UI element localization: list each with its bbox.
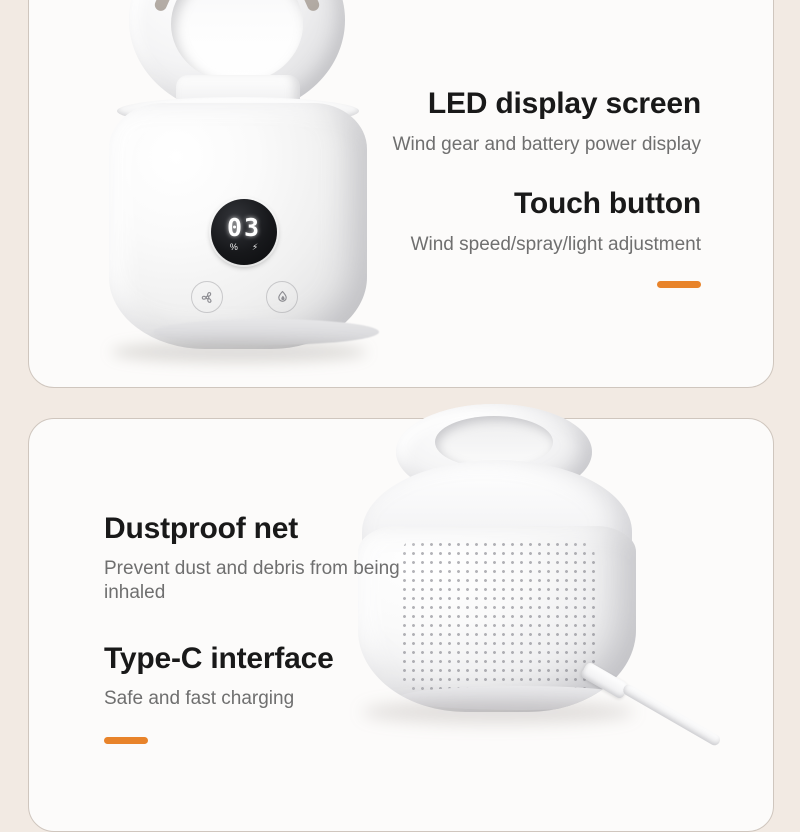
product-feature-page: 03 % ⚡ — [0, 0, 800, 800]
dustproof-typec-text-block: Dustproof net Prevent dust and debris fr… — [104, 512, 434, 744]
feature-subtext-dustproof-net: Prevent dust and debris from being inhal… — [104, 557, 434, 606]
led-display-value: 03 — [227, 215, 261, 240]
feature-heading-touch-button: Touch button — [281, 187, 701, 220]
feature-heading-typec-interface: Type-C interface — [104, 642, 434, 675]
led-display-screen: 03 % ⚡ — [211, 199, 277, 265]
feature-subtext-touch-button: Wind speed/spray/light adjustment — [281, 233, 701, 257]
percent-icon: % — [230, 243, 238, 252]
accent-bar-bottom — [104, 737, 148, 744]
led-touch-text-block: LED display screen Wind gear and battery… — [281, 87, 701, 288]
ring-air-opening — [171, 0, 303, 83]
accent-bar-wrapper-bottom — [104, 737, 434, 744]
base-drop-shadow — [111, 341, 367, 363]
accent-bar-top — [657, 281, 701, 288]
led-touch-panel-card: 03 % ⚡ — [28, 0, 774, 388]
led-indicator-icons: % ⚡ — [230, 243, 258, 252]
water-droplet-icon — [274, 289, 291, 306]
fan-icon — [199, 289, 216, 306]
accent-bar-wrapper-top — [281, 281, 701, 288]
fan-speed-button[interactable] — [191, 281, 223, 313]
feature-heading-dustproof-net: Dustproof net — [104, 512, 434, 545]
feature-heading-led-display: LED display screen — [281, 87, 701, 120]
feature-subtext-typec-interface: Safe and fast charging — [104, 687, 434, 711]
feature-subtext-led-display: Wind gear and battery power display — [281, 133, 701, 157]
lightning-bolt-icon: ⚡ — [252, 243, 258, 252]
